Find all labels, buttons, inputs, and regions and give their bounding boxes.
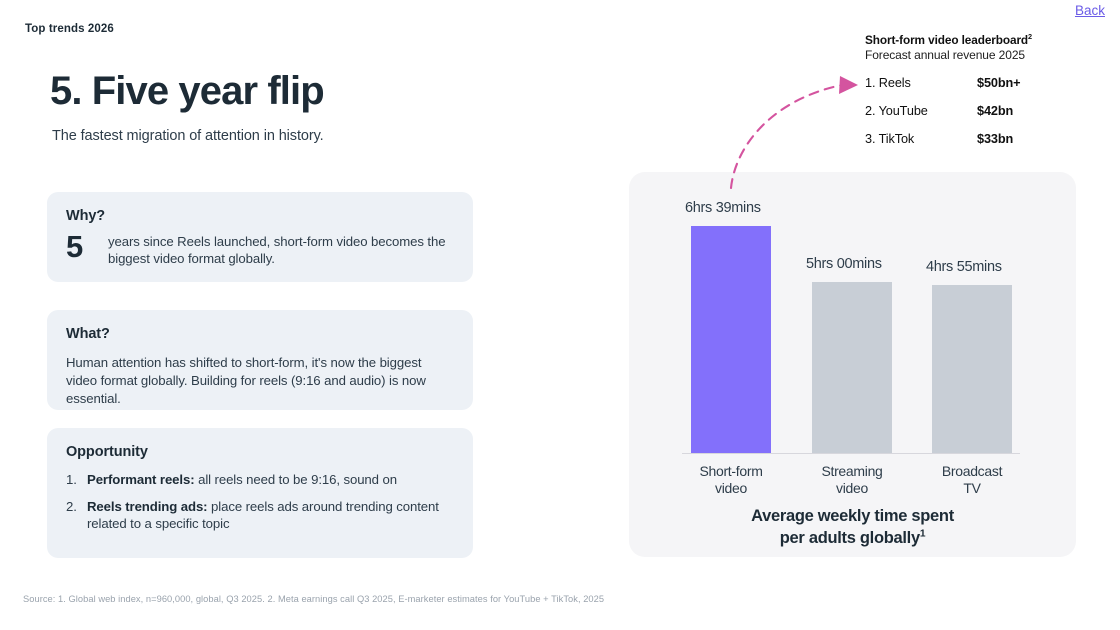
chart-axis-line	[682, 453, 1020, 454]
leaderboard-row-name: 3. TikTok	[865, 132, 977, 146]
chart-bar-value-label: 6hrs 39mins	[685, 200, 761, 216]
leaderboard-subtitle: Forecast annual revenue 2025	[865, 48, 1095, 62]
page-subtitle: The fastest migration of attention in hi…	[52, 128, 324, 144]
opportunity-item-number: 1.	[66, 472, 87, 489]
source-footnote: Source: 1. Global web index, n=960,000, …	[23, 594, 604, 604]
leaderboard: Short-form video leaderboard2 Forecast a…	[865, 33, 1095, 146]
chart-bar[interactable]	[691, 226, 771, 453]
chart-title: Average weekly time spent per adults glo…	[629, 485, 1076, 549]
card-why-number: 5	[66, 232, 108, 261]
card-why: Why? 5 years since Reels launched, short…	[47, 192, 473, 282]
chart-panel: 6hrs 39minsShort-form video5hrs 00minsSt…	[629, 172, 1076, 557]
leaderboard-row-value: $42bn	[977, 104, 1013, 118]
opportunity-item: 2.Reels trending ads: place reels ads ar…	[66, 499, 455, 533]
chart-bar[interactable]	[932, 285, 1012, 453]
card-what: What? Human attention has shifted to sho…	[47, 310, 473, 410]
leaderboard-rows: 1. Reels$50bn+2. YouTube$42bn3. TikTok$3…	[865, 76, 1095, 146]
chart-title-text: Average weekly time spent per adults glo…	[751, 507, 954, 546]
annotation-arrow-icon	[700, 60, 870, 200]
back-link[interactable]: Back	[1075, 3, 1105, 18]
leaderboard-row: 1. Reels$50bn+	[865, 76, 1095, 90]
leaderboard-title: Short-form video leaderboard2	[865, 33, 1095, 47]
chart-title-superscript: 1	[920, 528, 925, 539]
chart-bar-value-label: 4hrs 55mins	[926, 259, 1002, 275]
leaderboard-title-superscript: 2	[1028, 32, 1032, 41]
chart-bar[interactable]	[812, 282, 892, 453]
card-opportunity: Opportunity 1.Performant reels: all reel…	[47, 428, 473, 558]
card-why-row: 5 years since Reels launched, short-form…	[66, 232, 455, 268]
card-why-heading: Why?	[66, 208, 455, 224]
leaderboard-row-name: 1. Reels	[865, 76, 977, 90]
card-opportunity-heading: Opportunity	[66, 444, 455, 460]
eyebrow-label: Top trends 2026	[25, 23, 114, 35]
leaderboard-row-value: $50bn+	[977, 76, 1020, 90]
leaderboard-row-value: $33bn	[977, 132, 1013, 146]
leaderboard-row-name: 2. YouTube	[865, 104, 977, 118]
card-what-text: Human attention has shifted to short-for…	[66, 354, 455, 409]
opportunity-item-text: Performant reels: all reels need to be 9…	[87, 472, 397, 489]
card-why-text: years since Reels launched, short-form v…	[108, 232, 455, 268]
opportunity-item-number: 2.	[66, 499, 87, 516]
leaderboard-row: 2. YouTube$42bn	[865, 104, 1095, 118]
chart-bar-value-label: 5hrs 00mins	[806, 256, 882, 272]
leaderboard-title-text: Short-form video leaderboard	[865, 33, 1028, 47]
opportunity-item: 1.Performant reels: all reels need to be…	[66, 472, 455, 489]
opportunity-item-text: Reels trending ads: place reels ads arou…	[87, 499, 455, 533]
page-title: 5. Five year flip	[50, 68, 324, 114]
leaderboard-row: 3. TikTok$33bn	[865, 132, 1095, 146]
card-what-heading: What?	[66, 326, 455, 342]
opportunity-list: 1.Performant reels: all reels need to be…	[66, 472, 455, 533]
